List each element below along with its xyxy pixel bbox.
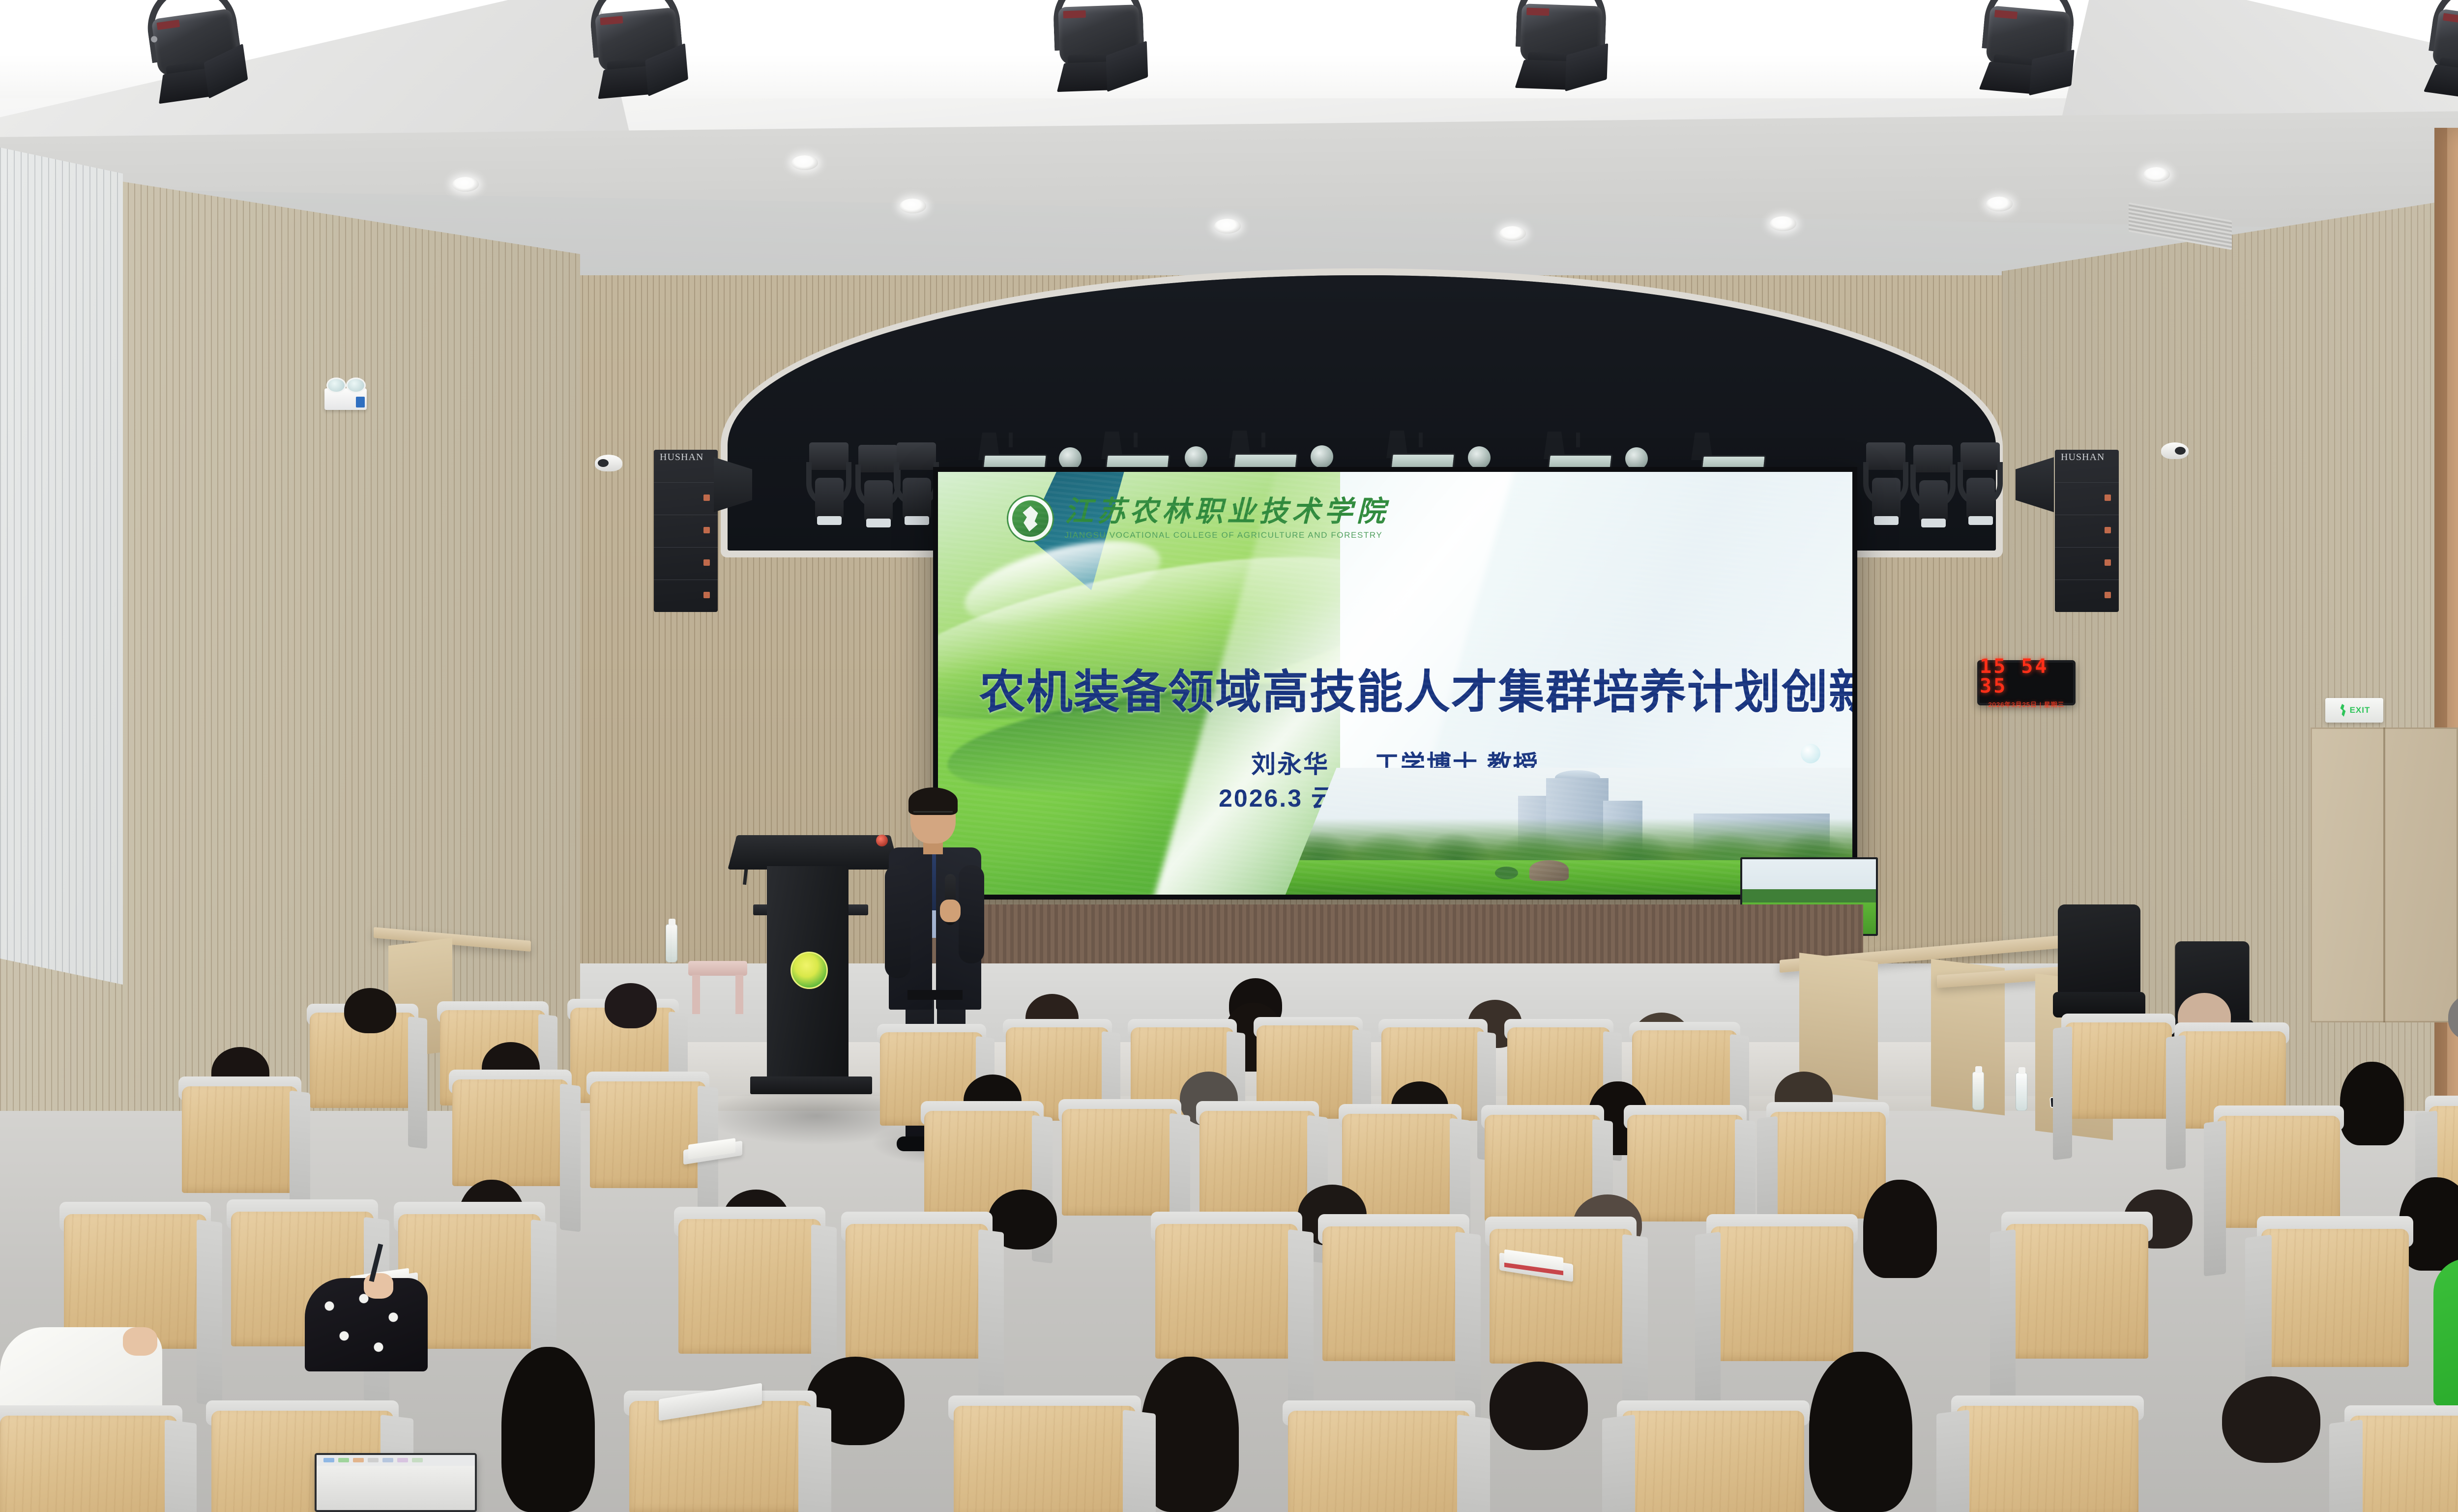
light-head xyxy=(1872,478,1901,520)
seat-back xyxy=(1627,1115,1743,1221)
presenter-hand xyxy=(940,900,961,922)
stool-seat xyxy=(688,961,747,976)
running-man-icon xyxy=(2339,704,2347,717)
side-stool xyxy=(688,961,747,1015)
seat-side-panel xyxy=(1457,1415,1490,1512)
speaker-led xyxy=(703,592,710,598)
led-wall-clock: 15 54 35 2026年3月25日 | 星期三 xyxy=(1977,660,2076,705)
auditorium-seat[interactable] xyxy=(2350,1416,2458,1512)
truss-stem xyxy=(1134,433,1138,447)
emergency-light xyxy=(324,388,367,410)
light-display xyxy=(1526,8,1549,16)
speaker-led xyxy=(2105,559,2111,566)
truss-stem xyxy=(1419,433,1423,447)
stage-fresnel-light xyxy=(135,0,253,103)
emergency-light-badge xyxy=(356,397,365,407)
truss-stem xyxy=(1009,433,1013,447)
exit-sign: EXIT xyxy=(2325,698,2383,723)
seat-back xyxy=(678,1219,821,1354)
seat-side-panel xyxy=(798,1405,831,1512)
clock-date: 2026年3月25日 | 星期三 xyxy=(1988,699,2064,709)
light-lens xyxy=(1921,519,1946,527)
speaker-brand-label: HUSHAN xyxy=(660,452,703,463)
downlight-icon xyxy=(900,199,926,213)
line-array-speaker-left: HUSHAN xyxy=(654,450,718,612)
stool-leg xyxy=(735,975,743,1014)
light-lens xyxy=(1968,516,1993,525)
led-presentation-screen: 江苏农林职业技术学院 JIANGSU VOCATIONAL COLLEGE OF… xyxy=(933,467,1857,900)
podium-base xyxy=(750,1076,872,1094)
stage-fresnel-light xyxy=(580,0,693,98)
campus-shrub xyxy=(1495,867,1518,879)
seat-side-panel xyxy=(1455,1232,1481,1419)
seat-back xyxy=(1322,1226,1465,1361)
speaker-segment xyxy=(654,515,718,547)
laptop-tab xyxy=(397,1458,408,1462)
seat-side-panel xyxy=(1622,1234,1648,1422)
clock-time: 15 54 35 xyxy=(1980,657,2073,696)
speaker-led xyxy=(2105,592,2111,598)
light-head xyxy=(1966,478,1995,520)
downlight-icon xyxy=(452,177,479,192)
truss-disc-light xyxy=(1468,446,1491,469)
seat-back xyxy=(2006,1224,2148,1359)
institution-name-cn: 江苏农林职业技术学院 xyxy=(1065,497,1389,526)
stage-fresnel-light xyxy=(1971,0,2084,96)
auditorium-seat[interactable] xyxy=(1957,1406,2138,1512)
seal-leaf-glyph xyxy=(1020,506,1041,531)
light-lens xyxy=(866,519,891,527)
audience-head xyxy=(344,988,396,1033)
light-head xyxy=(864,480,893,523)
light-display xyxy=(1063,10,1085,19)
logo-text-block: 江苏农林职业技术学院 JIANGSU VOCATIONAL COLLEGE OF… xyxy=(1065,497,1389,540)
exit-label: EXIT xyxy=(2350,705,2370,715)
downlight-icon xyxy=(1770,216,1796,231)
light-head xyxy=(1919,480,1948,523)
downlight-icon xyxy=(1214,219,1241,233)
laptop-tab xyxy=(412,1458,423,1462)
speaker-led xyxy=(703,559,710,566)
moving-head-light xyxy=(1958,442,2003,531)
slide-title: 农机装备领域高技能人才集群培养计划创新实践 xyxy=(979,667,1820,717)
auditorium-seat[interactable] xyxy=(1622,1411,1804,1512)
laptop-tab xyxy=(323,1458,334,1462)
seat-side-panel xyxy=(1990,1229,2016,1417)
auditorium-seat[interactable] xyxy=(1288,1411,1470,1512)
left-wall-white-panel xyxy=(0,147,123,985)
audience-head xyxy=(2222,1376,2320,1463)
seat-back xyxy=(1622,1411,1804,1512)
seat-back xyxy=(1062,1109,1178,1216)
campus-treeline xyxy=(1286,818,1852,862)
truss-stem xyxy=(1576,433,1580,447)
water-bottle xyxy=(1972,1072,1984,1110)
speaker-segment xyxy=(2055,547,2119,580)
water-bottle xyxy=(666,924,677,962)
podium-college-emblem-icon xyxy=(790,952,828,989)
seat-back xyxy=(629,1401,811,1512)
seat-side-panel xyxy=(1288,1229,1314,1417)
institution-name-en: JIANGSU VOCATIONAL COLLEGE OF AGRICULTUR… xyxy=(1065,530,1389,540)
slide-canvas: 江苏农林职业技术学院 JIANGSU VOCATIONAL COLLEGE OF… xyxy=(938,472,1852,895)
audience-head xyxy=(1809,1352,1912,1512)
seat-back xyxy=(0,1416,177,1512)
seat-back xyxy=(1288,1411,1470,1512)
audience-head xyxy=(1863,1180,1937,1278)
seat-back xyxy=(2065,1022,2172,1119)
seat-side-panel xyxy=(165,1420,197,1512)
campus-stone-marker xyxy=(1529,860,1569,880)
downlight-icon xyxy=(791,155,818,170)
auditorium-photo: HUSHAN HUSHAN xyxy=(0,0,2458,1512)
line-array-speaker-right: HUSHAN xyxy=(2055,450,2119,612)
presenter-arm xyxy=(959,865,984,963)
seat-side-panel xyxy=(2329,1420,2363,1512)
seat-side-panel xyxy=(1936,1410,1969,1512)
audience-head xyxy=(605,983,657,1028)
seat-side-panel xyxy=(1695,1232,1721,1419)
downlight-icon xyxy=(1986,197,2013,211)
seat-side-panel xyxy=(978,1229,1004,1417)
laptop-tab xyxy=(368,1458,379,1462)
speaker-led xyxy=(703,527,710,533)
audience-hand xyxy=(123,1327,157,1356)
downlight-icon xyxy=(1499,226,1526,241)
auditorium-seat[interactable] xyxy=(954,1406,1136,1512)
light-lens xyxy=(1874,516,1899,525)
light-head xyxy=(815,478,844,520)
truss-disc-light xyxy=(1311,445,1333,468)
speaker-segment xyxy=(654,482,718,515)
seat-side-panel xyxy=(1602,1415,1635,1512)
stool-leg xyxy=(692,975,700,1014)
light-lens xyxy=(817,516,842,525)
door-split-line xyxy=(2383,727,2385,1022)
speaker-led xyxy=(2105,527,2111,533)
seat-back xyxy=(1200,1111,1316,1218)
stage-skirt-panel xyxy=(929,904,1863,968)
audience-head xyxy=(2340,1062,2404,1145)
lectern-podium[interactable] xyxy=(732,831,895,1135)
seat-back xyxy=(954,1406,1136,1512)
monitor-treeline xyxy=(1742,889,1876,904)
seat-back xyxy=(1957,1406,2138,1512)
speaker-segment xyxy=(2055,580,2119,612)
auditorium-seat[interactable] xyxy=(1322,1226,1465,1403)
speaker-led xyxy=(703,494,710,501)
seat-back xyxy=(846,1224,988,1359)
seat-side-panel xyxy=(560,1084,581,1233)
speaker-segment xyxy=(654,547,718,580)
seat-side-panel xyxy=(2053,1026,2072,1161)
stage-fresnel-light xyxy=(1045,0,1152,90)
moving-head-light xyxy=(894,442,939,531)
seat-back xyxy=(590,1081,706,1188)
seat-back xyxy=(1711,1226,1853,1361)
laptop-tab xyxy=(382,1458,393,1462)
seat-back xyxy=(452,1079,568,1186)
speaker-segment xyxy=(2055,482,2119,515)
seat-back xyxy=(2261,1229,2409,1367)
speaker-name: 刘永华 xyxy=(1251,751,1329,778)
audience-member-green-jacket xyxy=(2433,1258,2458,1406)
chair-back xyxy=(2058,904,2140,998)
slide-institution-logo: 江苏农林职业技术学院 JIANGSU VOCATIONAL COLLEGE OF… xyxy=(1007,495,1389,542)
truss-disc-light xyxy=(1185,446,1207,469)
speaker-brand-label: HUSHAN xyxy=(2061,452,2105,463)
moving-head-light xyxy=(806,442,851,531)
light-head xyxy=(903,478,931,520)
laptop-tab xyxy=(338,1458,349,1462)
auditorium-seat[interactable] xyxy=(629,1401,811,1512)
eyeglasses-icon xyxy=(913,811,953,819)
open-laptop[interactable] xyxy=(315,1453,477,1512)
speaker-led xyxy=(2105,494,2111,501)
seat-back xyxy=(182,1086,298,1193)
moving-head-light xyxy=(1910,445,1956,533)
auditorium-seat[interactable] xyxy=(678,1219,821,1396)
seat-side-panel xyxy=(1123,1410,1156,1512)
stage-fresnel-light xyxy=(1507,0,1614,89)
presenter-arm xyxy=(885,865,910,978)
audience-hand xyxy=(364,1273,393,1299)
podium-control-surface[interactable] xyxy=(728,835,900,870)
seat-back xyxy=(2217,1116,2340,1228)
seat-side-panel xyxy=(197,1220,222,1407)
audience-head xyxy=(501,1347,595,1512)
auditorium-seat[interactable] xyxy=(0,1416,177,1512)
speaker-segment xyxy=(654,580,718,612)
college-seal-icon xyxy=(1007,495,1054,542)
auditorium-seat[interactable] xyxy=(2006,1224,2148,1401)
seat-side-panel xyxy=(408,1017,427,1149)
seat-side-panel xyxy=(2204,1120,2226,1277)
moving-head-light xyxy=(1863,442,1908,531)
security-camera-icon xyxy=(2161,442,2189,459)
speaker-segment xyxy=(2055,515,2119,547)
light-lens xyxy=(905,516,929,525)
seat-side-panel xyxy=(2166,1035,2186,1170)
security-camera-icon xyxy=(595,455,622,471)
downlight-icon xyxy=(2143,167,2170,182)
truss-stem xyxy=(1261,433,1265,447)
seat-back xyxy=(2350,1416,2458,1512)
seat-back xyxy=(1490,1229,1632,1364)
audience-head xyxy=(1490,1362,1588,1450)
seat-back xyxy=(1155,1224,1298,1359)
slide-date: 2026.3 xyxy=(1219,785,1303,812)
laptop-tab xyxy=(353,1458,364,1462)
auditorium-seat[interactable] xyxy=(2065,1022,2172,1149)
presenter-belt xyxy=(907,990,963,1000)
water-bottle xyxy=(2016,1073,2027,1111)
